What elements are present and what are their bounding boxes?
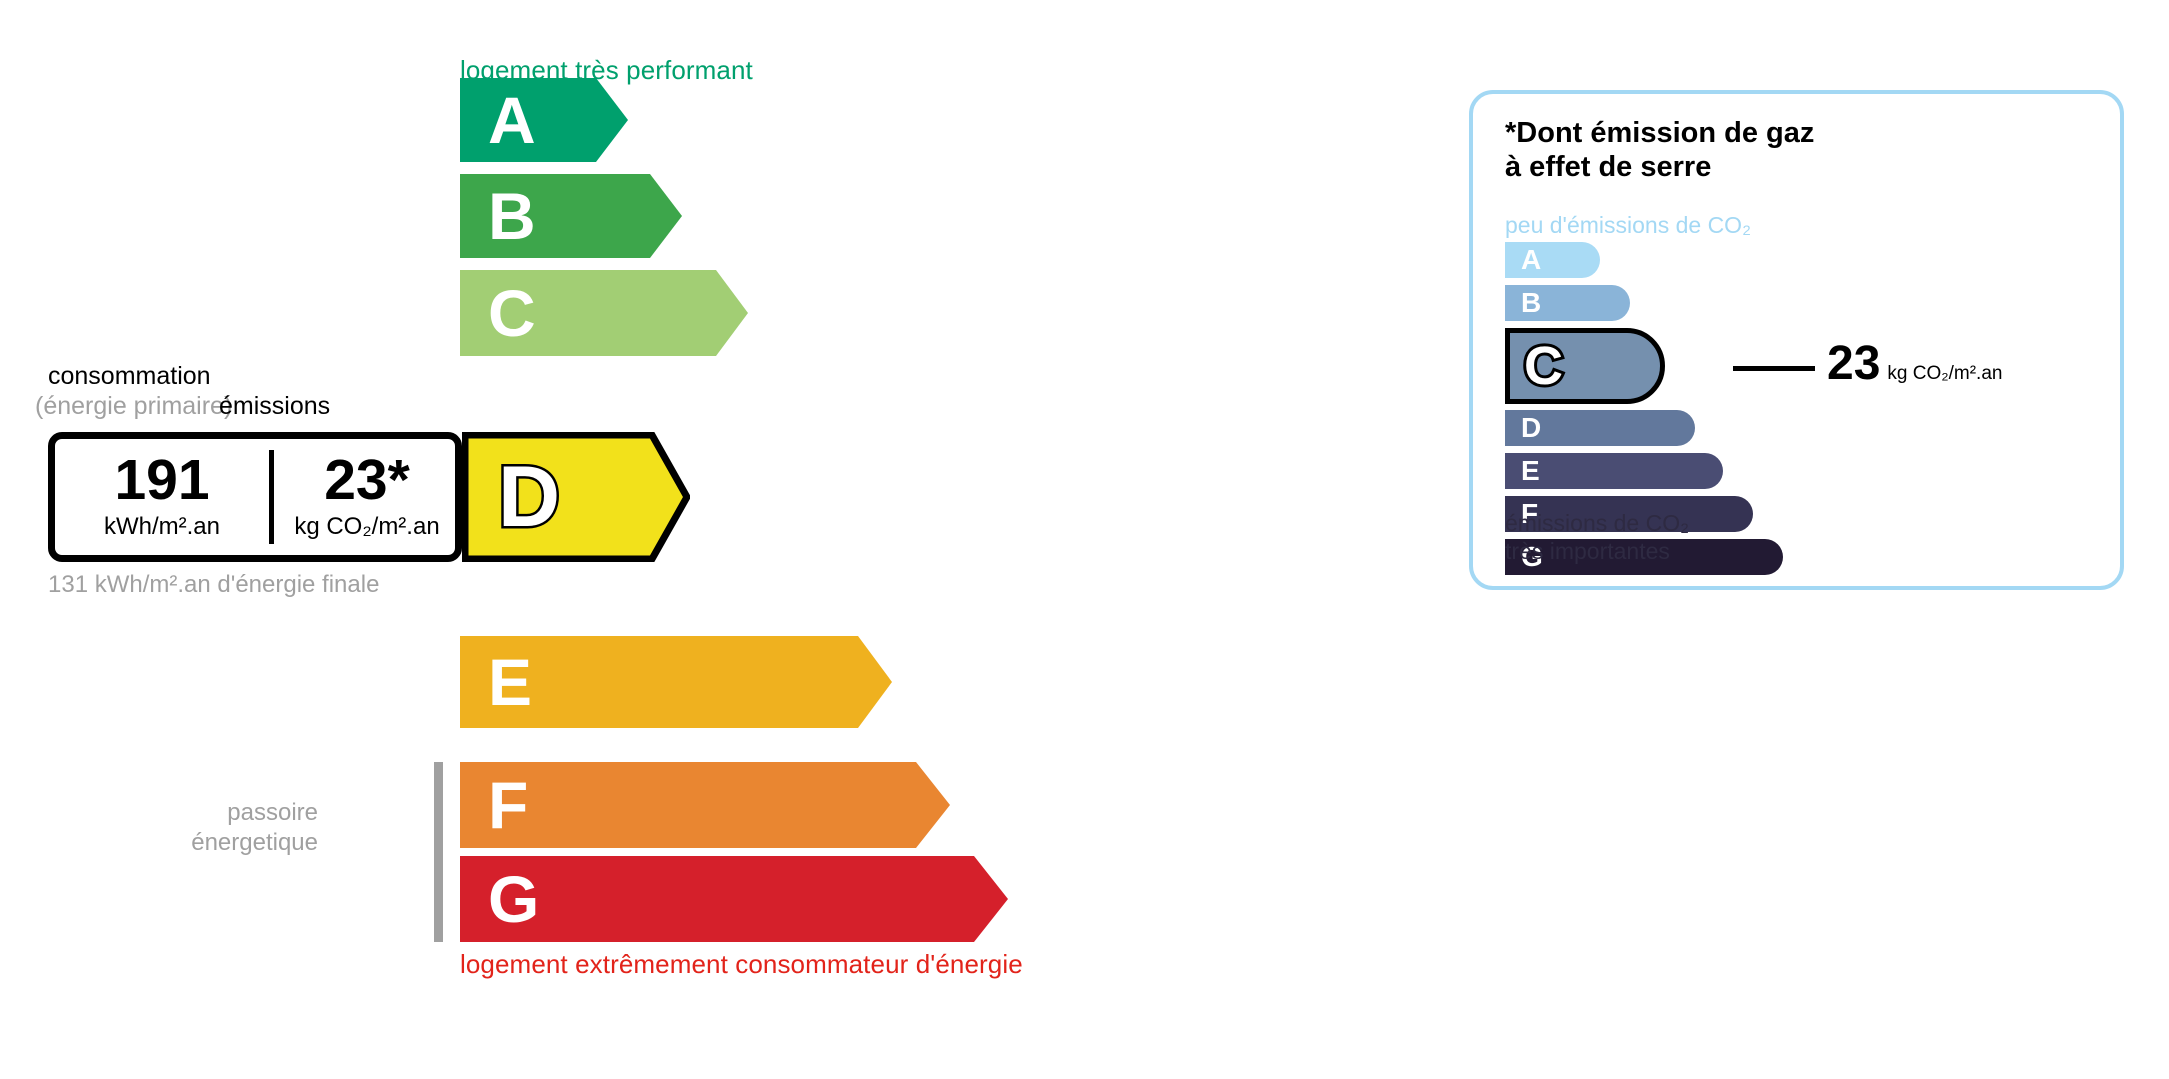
consumption-value-cell: 191 kWh/m².an [55, 439, 269, 555]
ges-callout: 23 kg CO₂/m².an [1827, 340, 2002, 388]
energy-arrow-f: F [460, 762, 950, 848]
ges-row-c: C 23 kg CO₂/m².an [1505, 328, 1783, 404]
energy-arrow-a: A [460, 78, 628, 162]
ges-row-d: D [1505, 410, 1783, 446]
ges-row-a: A [1505, 242, 1783, 278]
final-energy-note: 131 kWh/m².an d'énergie finale [48, 570, 379, 600]
ges-row-e: E [1505, 453, 1783, 489]
ges-bar-d: D [1505, 410, 1695, 446]
ges-callout-leader-line [1733, 366, 1815, 371]
energy-letter-f: F [488, 772, 528, 838]
ges-letter-a: A [1521, 246, 1541, 274]
ges-row-b: B [1505, 285, 1783, 321]
ges-letter-c: C [1524, 339, 1563, 393]
ges-top-caption: peu d'émissions de CO₂ [1505, 212, 1751, 239]
emissions-value-cell: 23* kg CO₂/m².an [274, 439, 460, 555]
energy-row-d: D [462, 432, 690, 562]
energy-letter-b: B [488, 183, 536, 249]
dpe-label: logement très performant A B [0, 0, 2169, 1079]
passoire-label: passoire énergetique [133, 798, 318, 858]
energy-arrow-e: E [460, 636, 892, 728]
ges-bar-a: A [1505, 242, 1600, 278]
consumption-subheader: (énergie primaire) [35, 392, 232, 421]
energy-letter-g: G [488, 866, 539, 932]
ges-callout-unit: kg CO₂/m².an [1887, 363, 2002, 385]
emissions-header: émissions [219, 392, 330, 421]
value-box: 191 kWh/m².an 23* kg CO₂/m².an [48, 432, 462, 562]
energy-row-e: E [460, 636, 892, 728]
ges-bottom-caption: émissions de CO₂ très importantes [1505, 509, 1689, 565]
energy-arrow-g: G [460, 856, 1008, 942]
emissions-value: 23* [324, 453, 410, 507]
consumption-unit: kWh/m².an [104, 513, 220, 541]
ges-panel: *Dont émission de gaz à effet de serre p… [1469, 90, 2124, 590]
energy-letter-c: C [488, 280, 536, 346]
energy-performance-scale: logement très performant A B [0, 0, 1400, 1079]
energy-letter-a: A [488, 87, 536, 153]
energy-letter-e: E [488, 649, 532, 715]
energy-arrow-b: B [460, 174, 682, 258]
emissions-unit: kg CO₂/m².an [294, 513, 439, 541]
consumption-value: 191 [114, 453, 209, 507]
energy-row-c: C [460, 270, 748, 356]
energy-row-a: A [460, 78, 628, 162]
ges-bar-b: B [1505, 285, 1630, 321]
passoire-bracket [434, 762, 443, 942]
energy-row-g: G [460, 856, 1008, 942]
consumption-header: consommation [48, 362, 211, 391]
energy-row-f: F [460, 762, 950, 848]
energy-letter-d: D [498, 454, 560, 540]
energy-bottom-caption: logement extrêmement consommateur d'éner… [460, 949, 1023, 980]
ges-letter-d: D [1521, 414, 1541, 442]
energy-row-b: B [460, 174, 682, 258]
ges-callout-value: 23 [1827, 340, 1880, 388]
ges-panel-title: *Dont émission de gaz à effet de serre [1505, 116, 1814, 184]
ges-letter-b: B [1521, 289, 1541, 317]
energy-arrow-c: C [460, 270, 748, 356]
ges-bar-e: E [1505, 453, 1723, 489]
ges-bar-c: C [1505, 328, 1665, 404]
energy-arrow-d: D [462, 432, 690, 562]
ges-letter-e: E [1521, 457, 1540, 485]
